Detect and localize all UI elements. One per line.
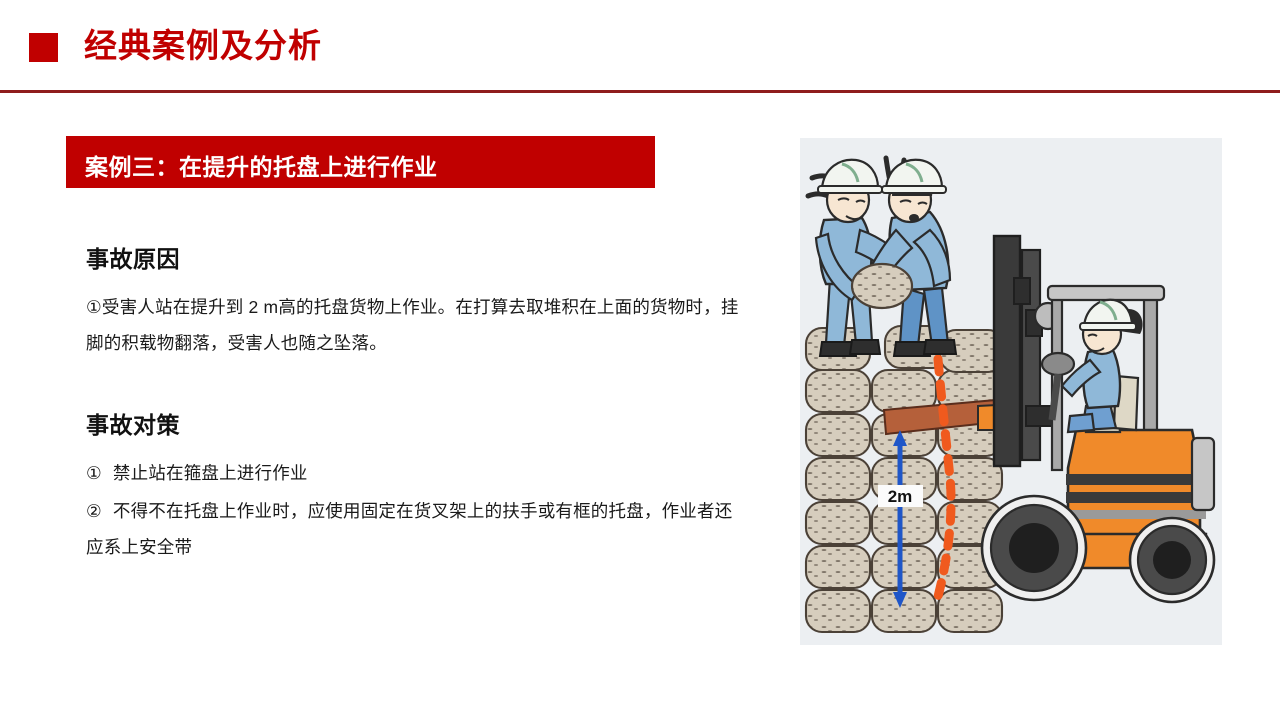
list-item-marker: ① xyxy=(86,455,102,491)
case-detail-column: 事故原因 ①受害人站在提升到 2 m高的托盘货物上作业。在打算去取堆积在上面的货… xyxy=(86,243,746,567)
accident-measures-block: 事故对策 ①禁止站在箍盘上进行作业 ②不得不在托盘上作业时，应使用固定在货叉架上… xyxy=(86,409,746,565)
list-item: ②不得不在托盘上作业时，应使用固定在货叉架上的扶手或有框的托盘，作业者还应系上安… xyxy=(86,493,746,565)
accident-cause-text: ①受害人站在提升到 2 m高的托盘货物上作业。在打算去取堆积在上面的货物时，挂脚… xyxy=(86,289,746,361)
list-item: ①禁止站在箍盘上进行作业 xyxy=(86,455,746,491)
forklift-pallet-accident-drawing: 2m xyxy=(800,138,1222,645)
case-title-banner: 案例三：在提升的托盘上进行作业 xyxy=(66,136,655,188)
list-item-text: 不得不在托盘上作业时，应使用固定在货叉架上的扶手或有框的托盘，作业者还应系上安全… xyxy=(86,501,732,557)
case-title-label: 案例三：在提升的托盘上进行作业 xyxy=(85,148,438,182)
page-title: 经典案例及分析 xyxy=(84,23,322,69)
accident-cause-heading: 事故原因 xyxy=(86,243,746,275)
height-label-2m: 2m xyxy=(888,487,913,506)
header-bullet-square xyxy=(29,33,58,62)
accident-measures-heading: 事故对策 xyxy=(86,409,746,441)
carried-bale xyxy=(852,264,912,308)
accident-measures-list: ①禁止站在箍盘上进行作业 ②不得不在托盘上作业时，应使用固定在货叉架上的扶手或有… xyxy=(86,455,746,565)
accident-illustration: 2m xyxy=(800,138,1222,645)
bale-stack xyxy=(806,326,1004,632)
accident-cause-block: 事故原因 ①受害人站在提升到 2 m高的托盘货物上作业。在打算去取堆积在上面的货… xyxy=(86,243,746,361)
slide-header: 经典案例及分析 xyxy=(0,0,1280,95)
list-item-text: 禁止站在箍盘上进行作业 xyxy=(113,463,308,483)
header-divider-rule xyxy=(0,90,1280,93)
list-item-marker: ② xyxy=(86,493,102,529)
